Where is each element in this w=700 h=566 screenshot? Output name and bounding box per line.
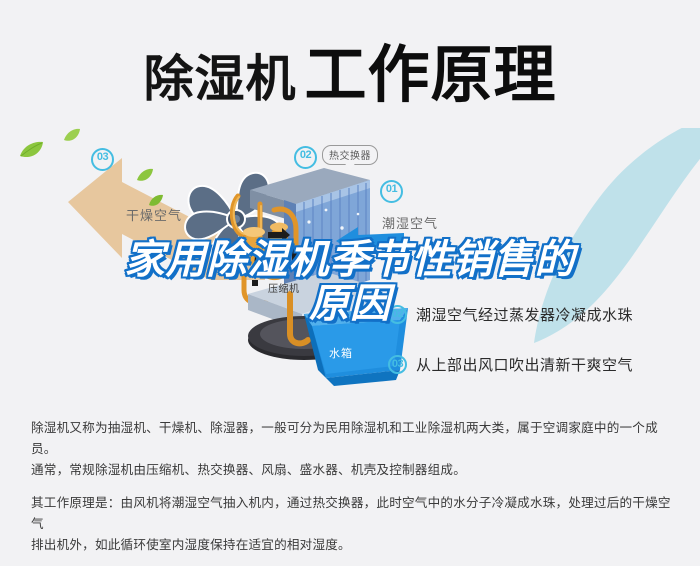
legend-list: 02 潮湿空气经过蒸发器冷凝成水珠 03 从上部出风口吹出清新干爽空气 [388, 298, 633, 380]
paragraph-1-line-1: 除湿机又称为抽湿机、干燥机、除湿器，一般可分为民用除湿机和工业除湿机两大类，属于… [31, 418, 671, 460]
callout-tail [344, 162, 356, 171]
paragraph-gap [31, 481, 671, 493]
badge-dry-air: 03 [91, 148, 114, 171]
label-compressor: 压缩机 [268, 280, 300, 295]
title-part-2: 工作原理 [304, 41, 556, 110]
legend-item: 02 潮湿空气经过蒸发器冷凝成水珠 [388, 298, 633, 330]
label-dry-air: 干燥空气 [126, 205, 182, 224]
leaf-icon [63, 128, 81, 148]
legend-text-03: 从上部出风口吹出清新干爽空气 [416, 354, 633, 375]
leaf-icon [136, 168, 154, 188]
paragraph-2-line-1: 其工作原理是：由风机将潮湿空气抽入机内，通过热交换器，此时空气中的水分子冷凝成水… [31, 493, 671, 535]
legend-badge-02: 02 [388, 305, 407, 324]
label-water-tank: 水箱 [329, 345, 353, 361]
legend-item: 03 从上部出风口吹出清新干爽空气 [388, 348, 633, 380]
page-title: 除湿机工作原理 [0, 24, 700, 114]
legend-badge-03: 03 [388, 355, 407, 374]
leaf-icon [18, 140, 44, 165]
label-humid-air: 潮湿空气 [382, 213, 438, 232]
paragraph-1-line-2: 通常，常规除湿机由压缩机、热交换器、风扇、盛水器、机壳及控制器组成。 [31, 460, 671, 481]
infographic-page: 除湿机工作原理 [0, 0, 700, 566]
badge-humid-air: 01 [380, 180, 403, 203]
title-part-1: 除湿机 [143, 51, 296, 107]
paragraph-2-line-2: 排出机外，如此循环使室内湿度保持在适宜的相对湿度。 [31, 535, 671, 556]
badge-heat-exchanger: 02 [294, 146, 317, 169]
legend-text-02: 潮湿空气经过蒸发器冷凝成水珠 [416, 304, 633, 325]
body-copy: 除湿机又称为抽湿机、干燥机、除湿器，一般可分为民用除湿机和工业除湿机两大类，属于… [31, 418, 671, 556]
